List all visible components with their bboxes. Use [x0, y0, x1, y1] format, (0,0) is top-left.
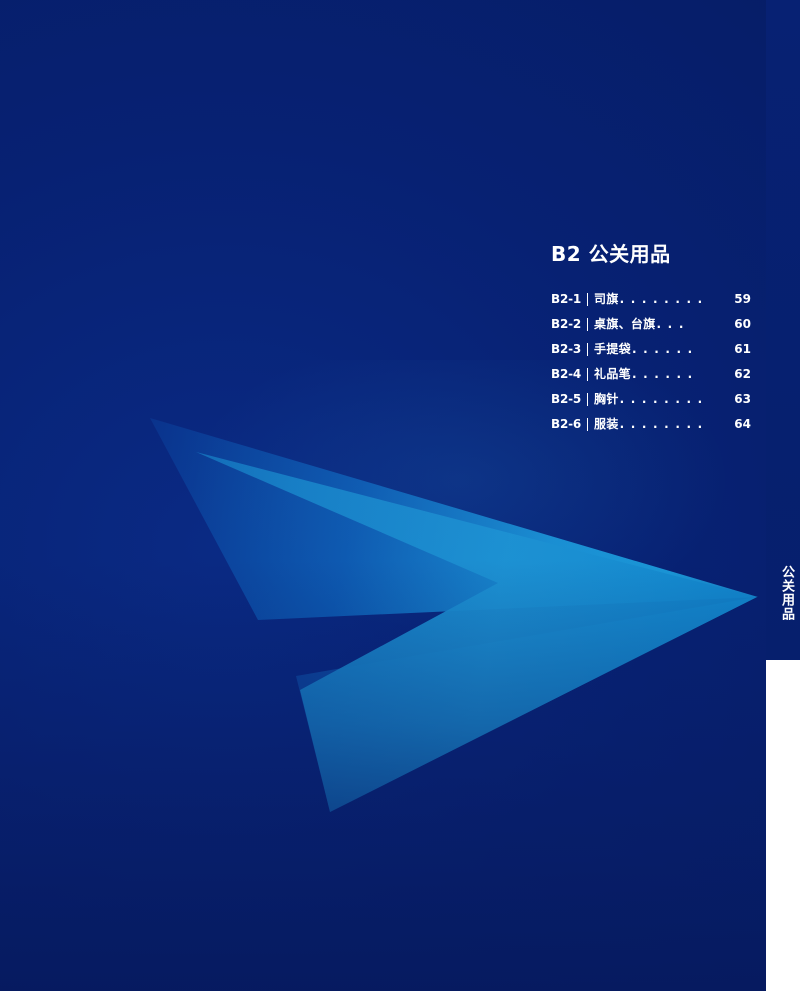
toc-entry-page: 60 — [734, 318, 751, 330]
section-divider-page: 公关用品 B2 公关用品 B2-1 司旗 . . . . . . . . 59 … — [0, 0, 800, 991]
side-tab: 公关用品 — [766, 0, 800, 660]
toc-entry[interactable]: B2-6 服装 . . . . . . . . 64 — [551, 418, 751, 431]
toc-entry-page: 62 — [734, 368, 751, 380]
toc-entry-leader: . . . . . . — [632, 343, 733, 355]
contents-block: B2 公关用品 B2-1 司旗 . . . . . . . . 59 B2-2 … — [551, 238, 751, 443]
toc-entry-leader: . . . — [657, 318, 734, 330]
toc-entry-divider — [587, 293, 588, 306]
toc-entry-code: B2-4 — [551, 368, 581, 380]
toc-entry-code: B2-1 — [551, 293, 581, 305]
side-tab-label: 公关用品 — [773, 565, 793, 621]
toc-entry[interactable]: B2-5 胸针 . . . . . . . . 63 — [551, 393, 751, 406]
toc-entry-code: B2-2 — [551, 318, 581, 330]
page-silhouette: 公关用品 B2 公关用品 B2-1 司旗 . . . . . . . . 59 … — [0, 0, 800, 991]
toc-entry-divider — [587, 343, 588, 356]
toc-entry[interactable]: B2-4 礼品笔 . . . . . . 62 — [551, 368, 751, 381]
toc-entry[interactable]: B2-2 桌旗、台旗 . . . 60 — [551, 318, 751, 331]
toc-entry[interactable]: B2-1 司旗 . . . . . . . . 59 — [551, 293, 751, 306]
table-of-contents: B2-1 司旗 . . . . . . . . 59 B2-2 桌旗、台旗 . … — [551, 293, 751, 431]
toc-entry-leader: . . . . . . . . — [620, 393, 734, 405]
toc-entry-label: 服装 — [594, 418, 619, 430]
toc-entry-leader: . . . . . . . . — [620, 293, 734, 305]
toc-entry-code: B2-5 — [551, 393, 581, 405]
page-title: B2 公关用品 — [551, 238, 751, 267]
toc-entry-divider — [587, 418, 588, 431]
toc-entry[interactable]: B2-3 手提袋 . . . . . . 61 — [551, 343, 751, 356]
toc-entry-page: 64 — [734, 418, 751, 430]
toc-entry-leader: . . . . . . . . — [620, 418, 734, 430]
toc-entry-page: 59 — [734, 293, 751, 305]
toc-entry-page: 63 — [734, 393, 751, 405]
toc-entry-page: 61 — [734, 343, 751, 355]
toc-entry-label: 手提袋 — [594, 343, 631, 355]
toc-entry-code: B2-6 — [551, 418, 581, 430]
toc-entry-label: 胸针 — [594, 393, 619, 405]
toc-entry-divider — [587, 318, 588, 331]
toc-entry-divider — [587, 393, 588, 406]
toc-entry-label: 桌旗、台旗 — [594, 318, 656, 330]
toc-entry-code: B2-3 — [551, 343, 581, 355]
toc-entry-divider — [587, 368, 588, 381]
toc-entry-label: 司旗 — [594, 293, 619, 305]
toc-entry-leader: . . . . . . — [632, 368, 733, 380]
toc-entry-label: 礼品笔 — [594, 368, 631, 380]
